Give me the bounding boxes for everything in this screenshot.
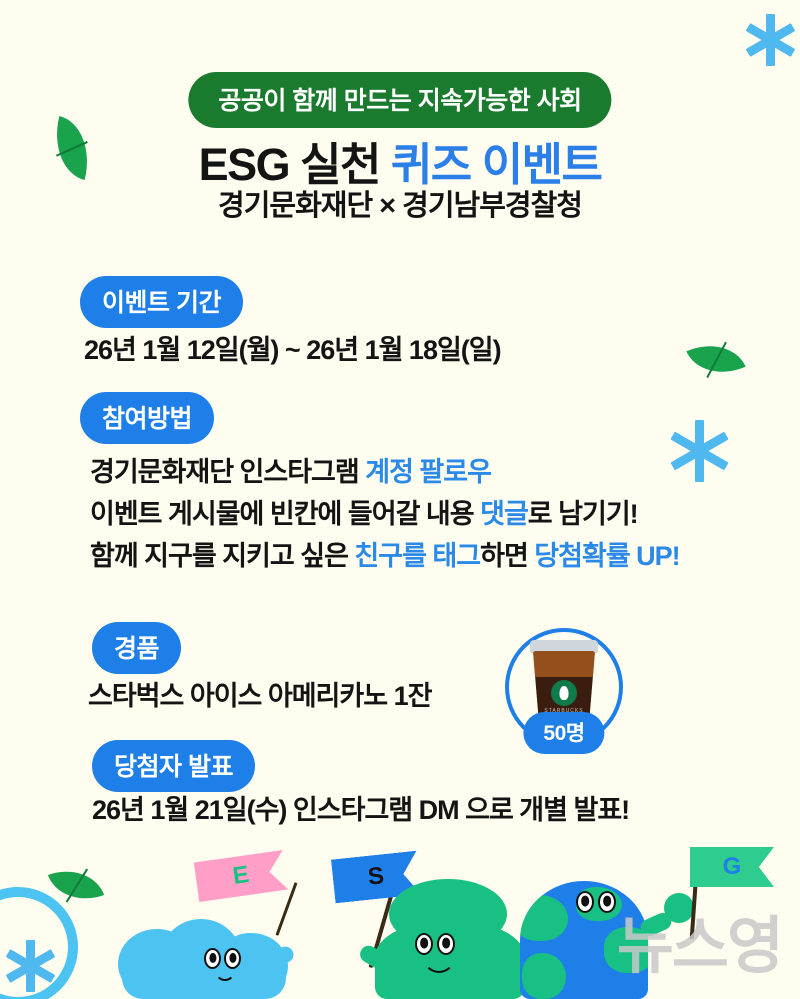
period-value-wrap: 26년 1월 12일(월) ~ 26년 1월 18일(일)	[84, 330, 501, 372]
green-blob-character	[375, 879, 525, 999]
how-to-line-3: 함께 지구를 지키고 싶은 친구를 태그하면 당첨확률 UP!	[90, 536, 680, 578]
prize-value: 스타벅스 아이스 아메리카노 1잔	[88, 676, 431, 718]
cloud-character	[118, 919, 288, 999]
starbucks-logo-icon	[551, 680, 577, 706]
flag-e-label: E	[231, 861, 251, 891]
cup-ice	[533, 651, 595, 677]
organizations-line: 경기문화재단 × 경기남부경찰청	[0, 182, 800, 224]
earth-land-4	[522, 953, 566, 999]
how-to-line-2: 이벤트 게시물에 빈칸에 들어갈 내용 댓글로 남기기!	[90, 494, 680, 536]
green-blob-eye-right	[437, 933, 455, 955]
section-how-to: 참여방법	[80, 392, 214, 444]
earth-eye-right	[598, 891, 616, 913]
earth-eye-left	[576, 891, 594, 913]
how-to-3-plain1: 함께 지구를 지키고 싶은	[90, 541, 354, 571]
winner-count-badge: 50명	[523, 712, 604, 754]
period-value: 26년 1월 12일(월) ~ 26년 1월 18일(일)	[84, 330, 501, 372]
how-to-1-hl1: 계정 팔로우	[365, 457, 491, 487]
flag-g: G	[690, 847, 774, 887]
how-to-line-1: 경기문화재단 인스타그램 계정 팔로우	[90, 452, 680, 494]
announcement-label: 당첨자 발표	[92, 740, 255, 792]
how-to-2-hl1: 댓글	[480, 499, 528, 529]
section-announcement: 당첨자 발표	[92, 740, 255, 792]
asterisk-top-right-icon	[744, 14, 796, 66]
how-to-3-plain2: 하면	[480, 541, 534, 571]
leaf-mid-right-icon	[686, 332, 745, 386]
how-to-lines: 경기문화재단 인스타그램 계정 팔로우 이벤트 게시물에 빈칸에 들어갈 내용 …	[90, 452, 680, 578]
how-to-2-plain1: 이벤트 게시물에 빈칸에 들어갈 내용	[90, 499, 480, 529]
section-period: 이벤트 기간	[80, 276, 243, 328]
green-blob-eye-left	[415, 933, 433, 955]
event-poster: 공공이 함께 만드는 지속가능한 사회 ESG 실천 퀴즈 이벤트 경기문화재단…	[0, 0, 800, 999]
watermark: 뉴스영	[617, 895, 782, 985]
how-to-3-hl1: 친구를 태그	[354, 541, 480, 571]
period-label: 이벤트 기간	[80, 276, 243, 328]
flag-e: E	[194, 850, 289, 902]
bottom-illustration: E S	[0, 824, 800, 999]
flag-g-label: G	[723, 853, 742, 881]
cloud-eye-right	[224, 948, 241, 969]
prize-value-wrap: 스타벅스 아이스 아메리카노 1잔	[88, 676, 431, 718]
how-to-1-plain1: 경기문화재단 인스타그램	[90, 457, 365, 487]
prize-image: STARBUCKS 50명	[505, 628, 623, 746]
tagline-badge: 공공이 함께 만드는 지속가능한 사회	[188, 72, 611, 128]
earth-land-1	[520, 895, 568, 941]
prize-label: 경품	[92, 622, 181, 674]
how-to-label: 참여방법	[80, 392, 214, 444]
how-to-3-hl2: 당첨확률 UP!	[534, 541, 679, 571]
how-to-2-plain2: 로 남기기!	[528, 499, 638, 529]
section-prize: 경품	[92, 622, 181, 674]
cloud-eye-left	[204, 948, 221, 969]
